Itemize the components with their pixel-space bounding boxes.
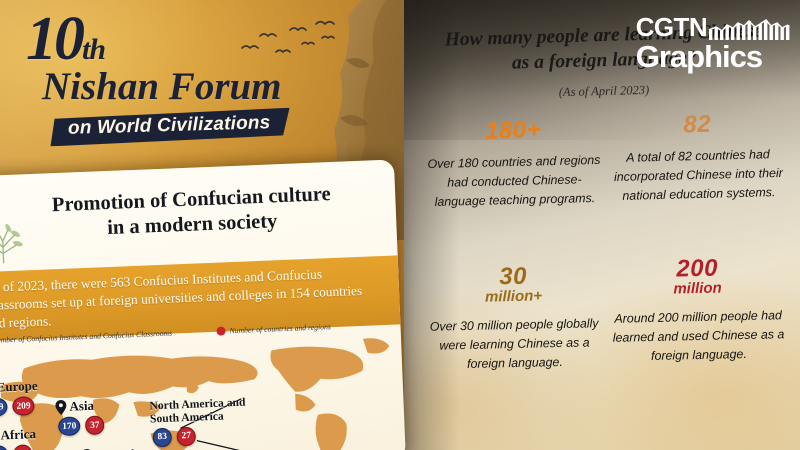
poster-ribbon: on World Civilizations: [50, 108, 293, 147]
poster-heading-block: 10th Nishan Forum on World Civilizations: [26, 8, 376, 143]
region-label: Africa: [0, 426, 36, 443]
region-badges: 76 47: [0, 444, 37, 450]
cgtn-skyline-bars-icon: [708, 14, 792, 40]
badge-institutes: 83: [152, 428, 172, 448]
badge-countries: 37: [85, 415, 105, 435]
poster-forum-name: Nishan Forum: [42, 66, 376, 107]
infographic-screenshot: 10th Nishan Forum on World Civilizations…: [0, 0, 800, 450]
stat-card-countries-conducted: 180+ Over 180 countries and regions had …: [425, 116, 603, 212]
region-badges: 209 209: [0, 396, 39, 417]
map-marker-americas[interactable]: North America and South America 83 27: [149, 395, 269, 448]
stat-card-learners-global: 30 million+ Over 30 million people globa…: [425, 262, 603, 374]
edition-number-suffix: th: [82, 33, 105, 66]
stat-number: 200: [609, 254, 785, 283]
world-map-container: Europe 209 209 Asia 170 37: [0, 335, 406, 450]
cgtn-graphics-watermark: CGTN: [636, 14, 792, 72]
badge-institutes: 76: [0, 445, 9, 450]
stat-description: Over 180 countries and regions had condu…: [426, 151, 603, 212]
stat-unit: million: [609, 280, 785, 300]
badge-countries: 47: [13, 444, 33, 450]
card-title-line2: in a modern society: [107, 210, 278, 239]
stat-number: 82: [609, 110, 786, 140]
right-panel-subtitle: (As of April 2023): [432, 80, 776, 103]
stat-number: 30: [425, 262, 601, 291]
badge-countries: 27: [176, 427, 196, 447]
watermark-top-row: CGTN: [636, 14, 792, 40]
stat-card-national-education: 82 A total of 82 countries had incorpora…: [609, 110, 787, 206]
map-pin-icon: [55, 399, 67, 414]
poster-edition-number: 10th: [26, 8, 376, 70]
watermark-sub: Graphics: [636, 41, 792, 72]
marker-head: Africa: [0, 426, 36, 444]
plant-decoration-icon: [0, 222, 34, 264]
card-title: Promotion of Confucian culture in a mode…: [5, 180, 379, 245]
stat-description: A total of 82 countries had incorporated…: [610, 145, 787, 206]
region-label: Oceania: [95, 446, 141, 450]
marker-head: Europe: [0, 378, 38, 396]
stat-description: Around 200 million people had learned an…: [610, 306, 787, 366]
card-title-line1: Promotion of Confucian culture: [52, 183, 332, 216]
map-marker-africa[interactable]: Africa 76 47: [0, 426, 37, 450]
legend-dot-red-icon: [216, 326, 225, 335]
stat-number: 180+: [425, 116, 602, 146]
poster-ribbon-label: on World Civilizations: [68, 113, 271, 140]
confucius-culture-card: Promotion of Confucian culture in a mode…: [0, 159, 406, 450]
stat-card-total-users: 200 million Around 200 million people ha…: [609, 254, 787, 366]
stat-unit: million+: [425, 288, 601, 308]
stat-description: Over 30 million people globally were lea…: [426, 314, 603, 374]
edition-number-value: 10: [26, 5, 82, 73]
region-label: Asia: [69, 398, 94, 415]
badge-institutes: 170: [58, 416, 81, 436]
region-badges: 170 37: [58, 415, 105, 436]
map-marker-europe[interactable]: Europe 209 209: [0, 378, 39, 417]
marker-head: Asia: [55, 397, 104, 415]
badge-institutes: 209: [0, 397, 8, 417]
badge-countries: 209: [12, 396, 35, 416]
stats-grid: 180+ Over 180 countries and regions had …: [418, 112, 790, 442]
region-label: North America and South America: [149, 395, 268, 427]
watermark-brand: CGTN: [636, 16, 707, 40]
map-marker-asia[interactable]: Asia 170 37: [55, 397, 105, 436]
region-label: Europe: [0, 378, 38, 396]
